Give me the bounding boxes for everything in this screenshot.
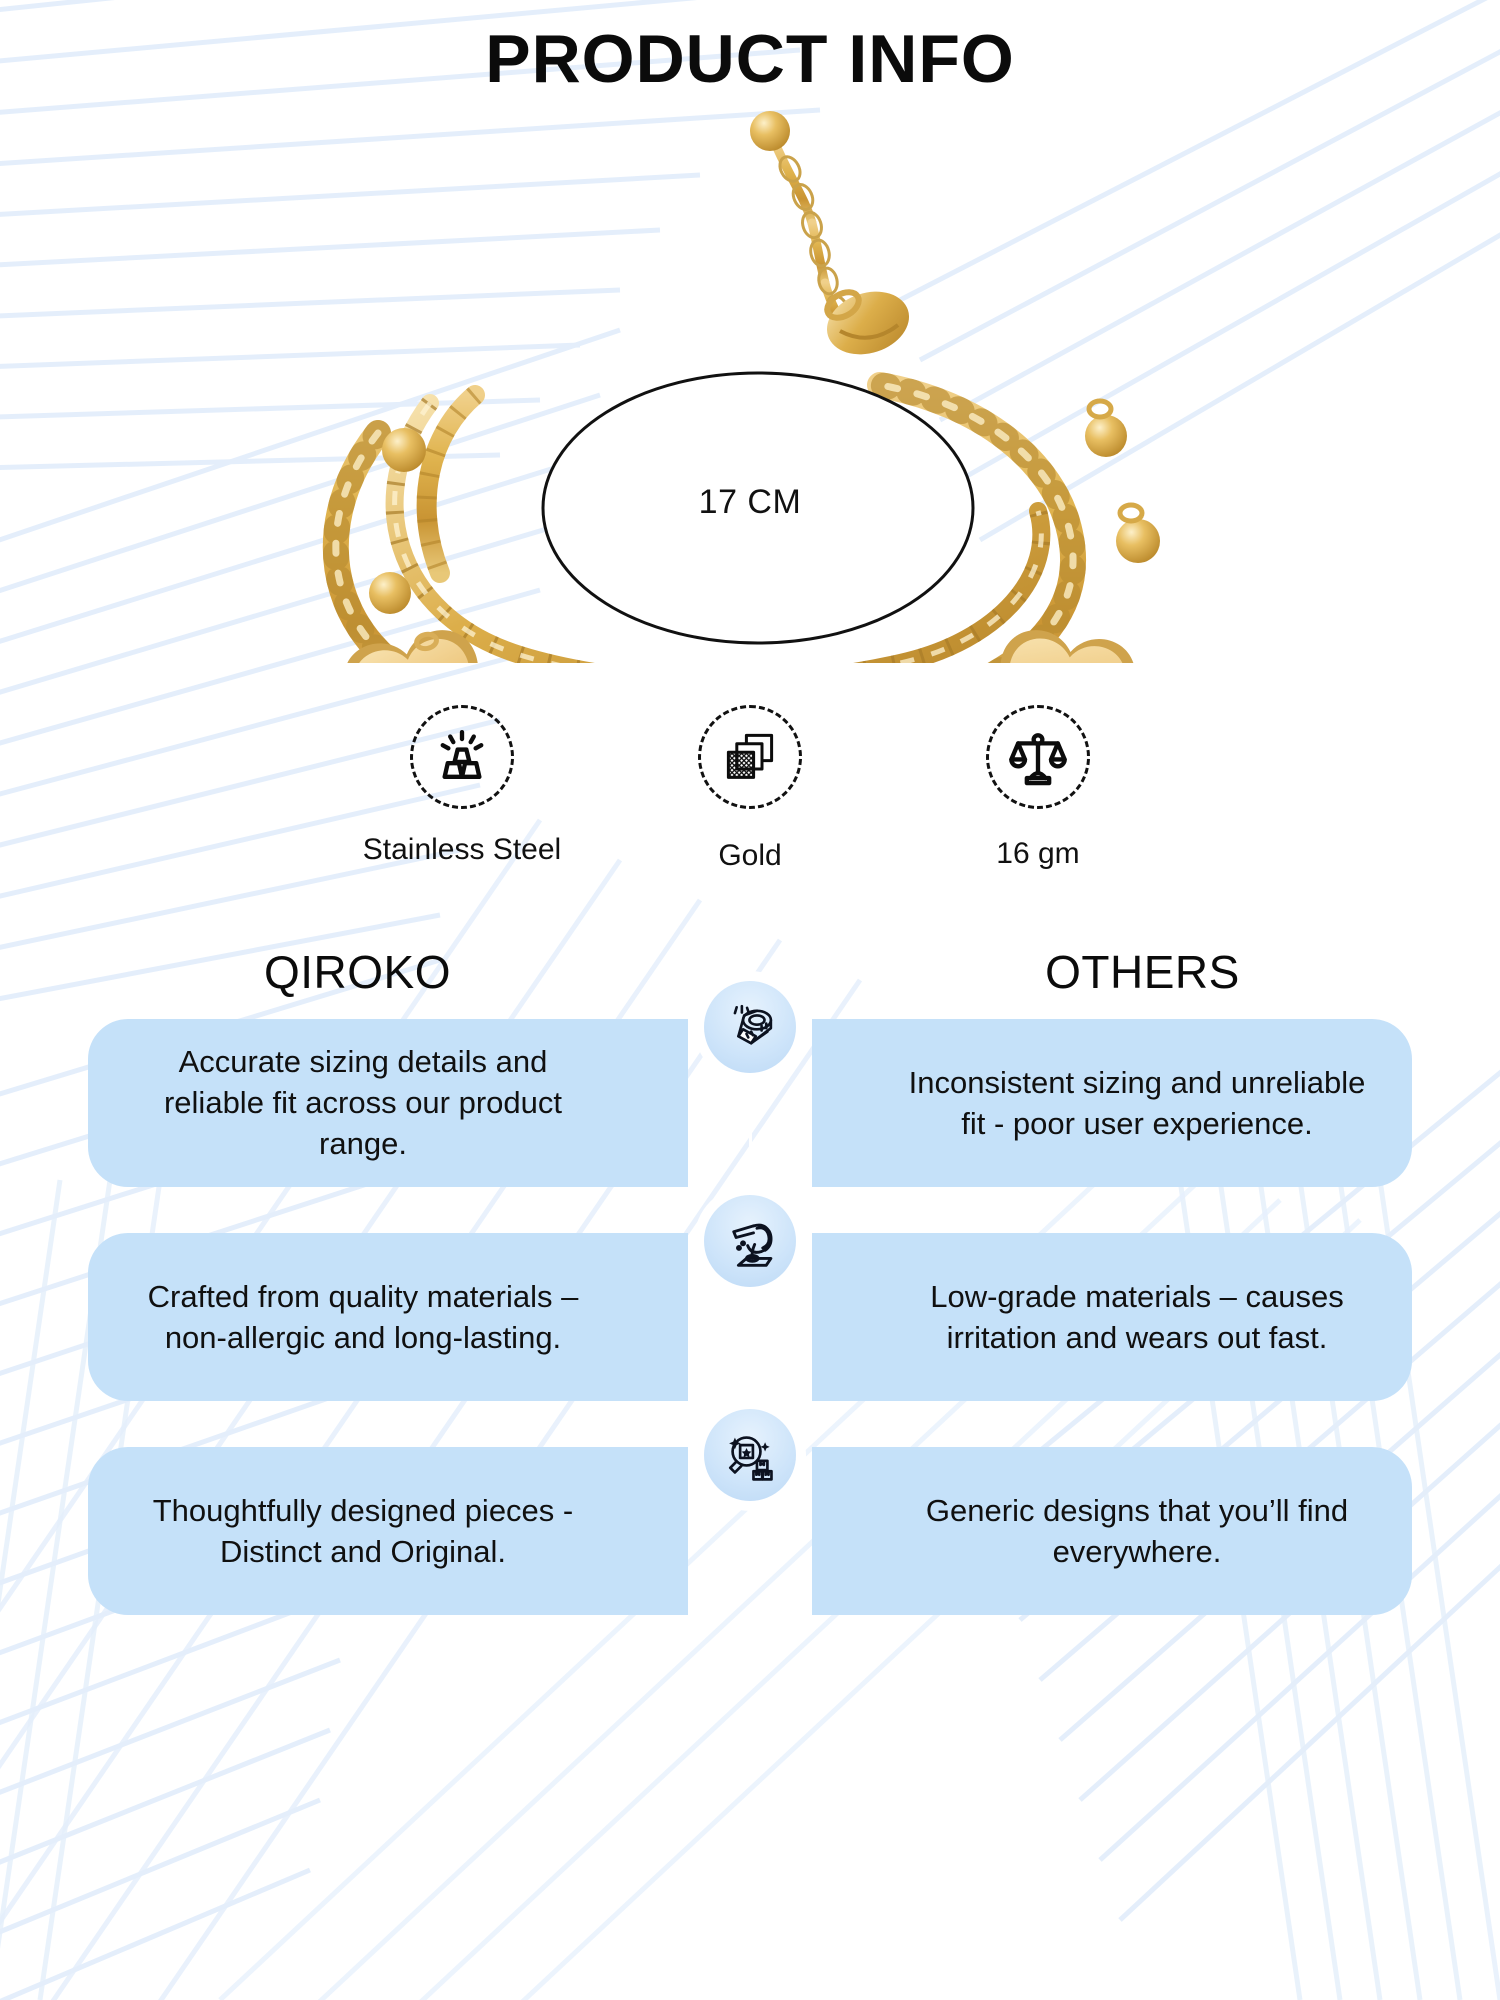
spec-item-weight: 16 gm xyxy=(933,705,1143,871)
gold-bracelet-photo xyxy=(0,103,1500,663)
magnifier-star-boxes-icon xyxy=(721,1426,779,1484)
others-drawback-text: Low-grade materials – causes irritation … xyxy=(812,1233,1412,1401)
others-drawback-text: Generic designs that you’ll find everywh… xyxy=(812,1447,1412,1615)
page-title: PRODUCT INFO xyxy=(0,0,1500,97)
spec-circle xyxy=(698,705,802,809)
comparison-row: Accurate sizing details and reliable fit… xyxy=(0,1015,1500,1191)
comparison-section: QIROKO OTHERS Accurate sizing details an… xyxy=(0,945,1500,1619)
badge-circle xyxy=(704,1409,796,1501)
balance-scale-icon xyxy=(1007,726,1069,788)
metal-casting-pour-icon xyxy=(721,1212,779,1270)
spec-row: Stainless Steel xyxy=(0,705,1500,873)
row-badge xyxy=(698,1409,802,1501)
spec-label: 16 gm xyxy=(996,837,1079,871)
badge-circle xyxy=(704,981,796,1073)
spec-label: Gold xyxy=(718,839,781,873)
others-heading: OTHERS xyxy=(755,945,1410,999)
spec-item-material: Stainless Steel xyxy=(357,705,567,867)
brand-benefit-text: Accurate sizing details and reliable fit… xyxy=(88,1019,688,1187)
badge-circle xyxy=(704,1195,796,1287)
size-label: 17 CM xyxy=(0,483,1500,522)
comparison-row: Crafted from quality materials – non-all… xyxy=(0,1229,1500,1405)
spec-circle xyxy=(410,705,514,809)
gold-bars-icon xyxy=(431,726,493,788)
spec-circle xyxy=(986,705,1090,809)
brand-benefit-text: Crafted from quality materials – non-all… xyxy=(88,1233,688,1401)
product-hero: 17 CM xyxy=(0,103,1500,663)
brand-benefit-text: Thoughtfully designed pieces - Distinct … xyxy=(88,1447,688,1615)
row-badge xyxy=(698,1195,802,1437)
material-swatches-icon xyxy=(720,727,780,787)
comparison-row: Thoughtfully designed pieces - Distinct … xyxy=(0,1443,1500,1619)
measuring-tape-icon xyxy=(721,998,779,1056)
spec-item-plating: Gold xyxy=(645,705,855,873)
others-drawback-text: Inconsistent sizing and unreliable fit -… xyxy=(812,1019,1412,1187)
comparison-rows: Accurate sizing details and reliable fit… xyxy=(0,1015,1500,1619)
spec-label: Stainless Steel xyxy=(363,833,561,867)
row-badge xyxy=(698,981,802,1223)
brand-heading: QIROKO xyxy=(90,945,755,999)
